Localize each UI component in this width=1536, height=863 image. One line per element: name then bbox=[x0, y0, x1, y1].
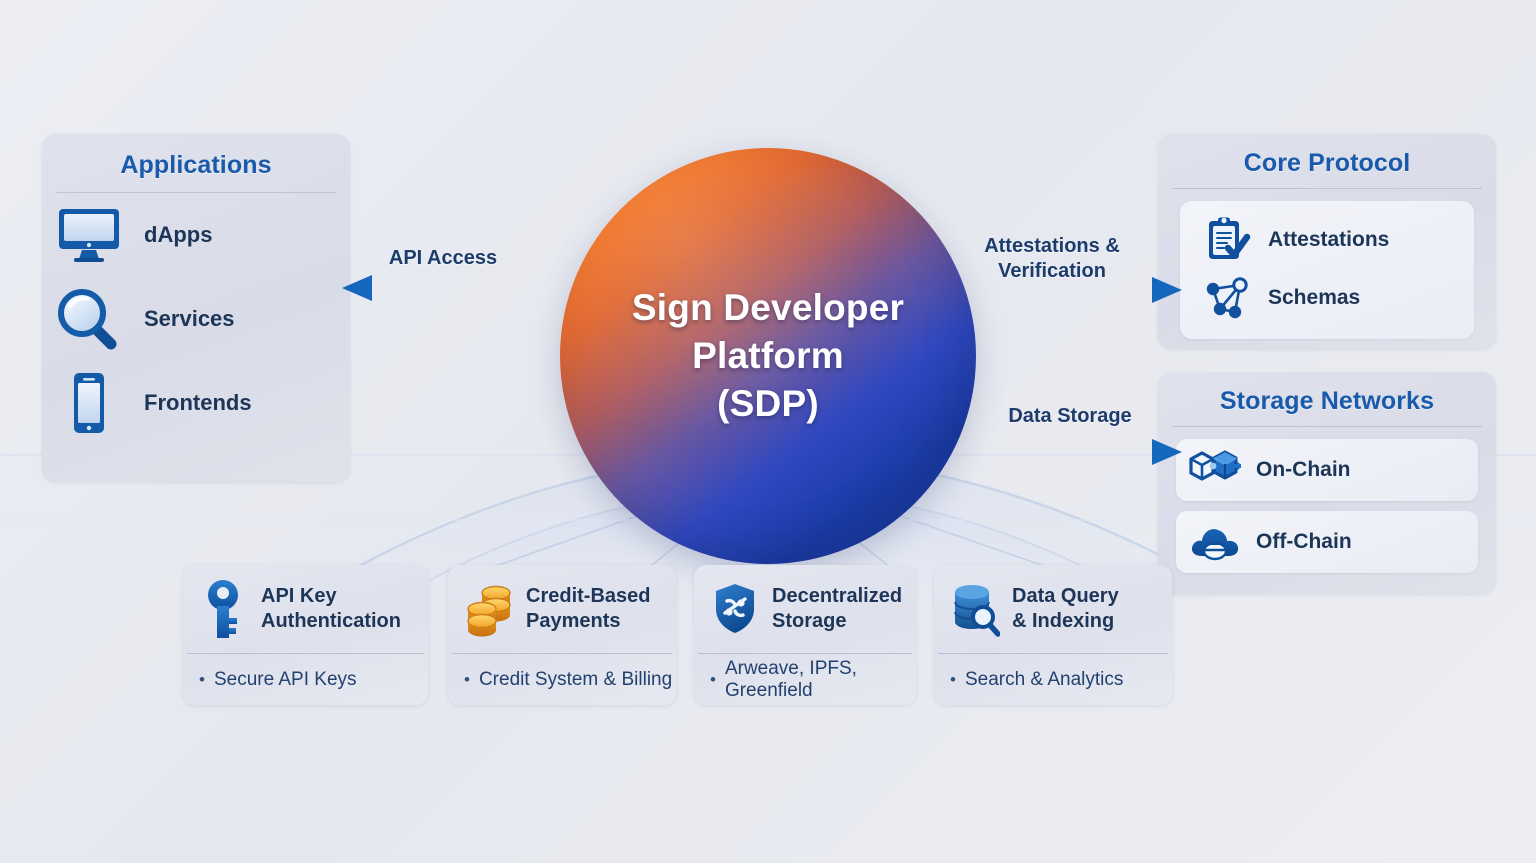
node-graph-icon bbox=[1200, 273, 1254, 323]
panel-applications: Applications dApps bbox=[42, 134, 350, 482]
list-item-label: Schemas bbox=[1268, 286, 1360, 310]
core-protocol-items: Attestations bbox=[1180, 201, 1474, 339]
arrow-data-storage bbox=[968, 439, 1182, 465]
feature-card-bullet: • Secure API Keys bbox=[183, 654, 428, 705]
list-item-label: dApps bbox=[144, 222, 212, 248]
feature-card-header: Data Query & Indexing bbox=[934, 565, 1172, 653]
feature-card-title: Credit-Based Payments bbox=[526, 584, 650, 634]
feature-card-bullet: • Search & Analytics bbox=[934, 654, 1172, 705]
arrow-api-access bbox=[342, 275, 566, 301]
list-item-on-chain[interactable]: On-Chain bbox=[1176, 439, 1478, 501]
coins-icon bbox=[462, 581, 516, 637]
feature-card-api-key-authentication[interactable]: API Key Authentication • Secure API Keys bbox=[183, 565, 428, 705]
shield-storage-icon bbox=[708, 581, 762, 637]
smartphone-icon bbox=[52, 370, 126, 436]
sphere-title-line-3: (SDP) bbox=[717, 380, 819, 428]
panel-core-protocol: Core Protocol bbox=[1158, 134, 1496, 349]
clipboard-check-icon bbox=[1200, 215, 1254, 265]
feature-card-title: API Key Authentication bbox=[261, 584, 401, 634]
bullet-marker: • bbox=[950, 671, 956, 688]
magnifier-icon bbox=[52, 286, 126, 352]
feature-card-header: Credit-Based Payments bbox=[448, 565, 676, 653]
feature-card-data-query-indexing[interactable]: Data Query & Indexing • Search & Analyti… bbox=[934, 565, 1172, 705]
bullet-marker: • bbox=[710, 671, 716, 688]
feature-card-title: Data Query & Indexing bbox=[1012, 584, 1119, 634]
panel-applications-title: Applications bbox=[42, 134, 350, 192]
cloud-storage-icon bbox=[1188, 520, 1242, 564]
arrow-data-storage-label: Data Storage bbox=[975, 404, 1165, 429]
feature-card-bullet-text: Search & Analytics bbox=[965, 669, 1123, 691]
divider bbox=[1172, 426, 1482, 427]
list-item-schemas[interactable]: Schemas bbox=[1180, 269, 1474, 327]
blockchain-cubes-icon bbox=[1188, 447, 1242, 493]
list-item-services[interactable]: Services bbox=[42, 277, 350, 361]
feature-card-header: Decentralized Storage bbox=[694, 565, 916, 653]
list-item-label: On-Chain bbox=[1256, 458, 1351, 482]
panel-core-protocol-title: Core Protocol bbox=[1158, 134, 1496, 188]
feature-card-decentralized-storage[interactable]: Decentralized Storage • Arweave, IPFS, G… bbox=[694, 565, 916, 705]
feature-card-bullet: • Credit System & Billing bbox=[448, 654, 676, 705]
list-item-label: Frontends bbox=[144, 390, 252, 416]
sphere-sdp: Sign Developer Platform (SDP) bbox=[560, 148, 976, 564]
list-item-label: Off-Chain bbox=[1256, 530, 1352, 554]
panel-storage-networks-title: Storage Networks bbox=[1158, 372, 1496, 426]
feature-card-credit-based-payments[interactable]: Credit-Based Payments • Credit System & … bbox=[448, 565, 676, 705]
desktop-monitor-icon bbox=[52, 205, 126, 265]
key-icon bbox=[197, 578, 251, 640]
list-item-attestations[interactable]: Attestations bbox=[1180, 211, 1474, 269]
feature-card-bullet: • Arweave, IPFS, Greenfield bbox=[694, 654, 916, 705]
feature-card-bullet-text: Credit System & Billing bbox=[479, 669, 672, 691]
panel-storage-networks: Storage Networks bbox=[1158, 372, 1496, 594]
database-search-icon bbox=[948, 581, 1002, 637]
divider bbox=[1172, 188, 1482, 189]
arrow-api-access-label: API Access bbox=[355, 246, 531, 271]
arrow-attestations-verification-label: Attestations & Verification bbox=[963, 234, 1141, 284]
list-item-label: Services bbox=[144, 306, 235, 332]
list-item-label: Attestations bbox=[1268, 228, 1389, 252]
list-item-off-chain[interactable]: Off-Chain bbox=[1176, 511, 1478, 573]
diagram-canvas: Applications dApps bbox=[0, 0, 1536, 863]
sphere-title-line-2: Platform bbox=[692, 332, 844, 380]
feature-card-bullet-text: Arweave, IPFS, Greenfield bbox=[725, 658, 916, 702]
sphere-title-line-1: Sign Developer bbox=[632, 284, 904, 332]
bullet-marker: • bbox=[464, 671, 470, 688]
feature-card-bullet-text: Secure API Keys bbox=[214, 669, 357, 691]
list-item-frontends[interactable]: Frontends bbox=[42, 361, 350, 445]
list-item-dapps[interactable]: dApps bbox=[42, 193, 350, 277]
feature-card-title: Decentralized Storage bbox=[772, 584, 902, 634]
bullet-marker: • bbox=[199, 671, 205, 688]
feature-card-header: API Key Authentication bbox=[183, 565, 428, 653]
